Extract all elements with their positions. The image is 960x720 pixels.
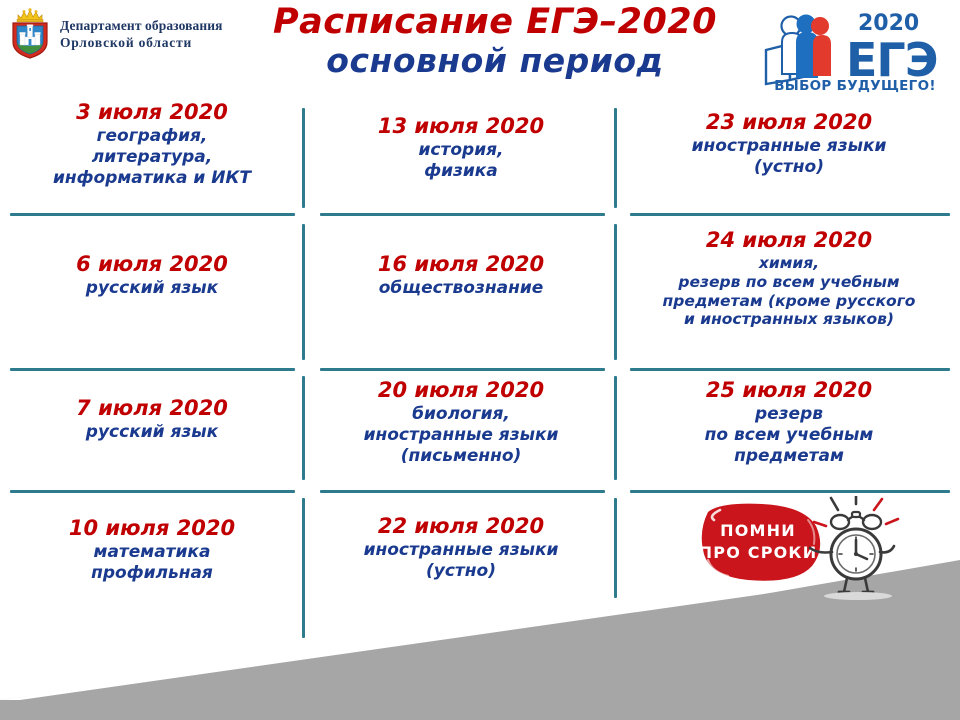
subject-line: предметам (кроме русского xyxy=(626,292,952,311)
column-divider-2-seg4 xyxy=(614,498,617,598)
oryol-oblast-coat-of-arms-icon xyxy=(8,8,52,60)
cell-date: 22 июля 2020 xyxy=(316,514,606,538)
department-branding: Департамент образования Орловской област… xyxy=(8,6,240,62)
cell-date: 25 июля 2020 xyxy=(628,378,950,402)
cell-date: 13 июля 2020 xyxy=(316,114,606,138)
subject-line: резерв по всем учебным xyxy=(626,273,952,292)
cell-date: 20 июля 2020 xyxy=(316,378,606,402)
cell-subjects: математика профильная xyxy=(8,542,296,583)
row-divider-3-col2 xyxy=(320,490,605,493)
subject-line: информатика и ИКТ xyxy=(8,168,296,189)
cell-date: 6 июля 2020 xyxy=(8,252,296,276)
subject-line: профильная xyxy=(8,563,296,584)
row-divider-2-col3 xyxy=(630,368,950,371)
schedule-cell-c3-r1: 23 июля 2020 иностранные языки (устно) xyxy=(624,110,954,178)
cell-date: 3 июля 2020 xyxy=(8,100,296,124)
schedule-cell-c1-r2: 6 июля 2020 русский язык xyxy=(4,252,300,299)
cell-date: 16 июля 2020 xyxy=(316,252,606,276)
subject-line: резерв xyxy=(628,404,950,425)
column-divider-1-seg1 xyxy=(302,108,305,208)
subject-line: химия, xyxy=(626,254,952,273)
row-divider-1-col1 xyxy=(10,213,295,216)
schedule-cell-c2-r4: 22 июля 2020 иностранные языки (устно) xyxy=(312,514,610,582)
red-stamp-icon: ПОМНИ ПРО СРОКИ xyxy=(699,504,820,581)
schedule-poster: Департамент образования Орловской област… xyxy=(0,0,960,720)
row-divider-2-col1 xyxy=(10,368,295,371)
schedule-cell-c2-r2: 16 июля 2020 обществознание xyxy=(312,252,610,299)
column-divider-1-seg3 xyxy=(302,376,305,480)
cell-subjects: география, литература, информатика и ИКТ xyxy=(8,126,296,188)
cell-subjects: иностранные языки (устно) xyxy=(628,136,950,177)
department-line-1: Департамент образования xyxy=(60,17,223,34)
row-divider-3-col1 xyxy=(10,490,295,493)
cell-subjects: русский язык xyxy=(8,422,296,443)
department-name: Департамент образования Орловской област… xyxy=(60,17,223,52)
subject-line: русский язык xyxy=(8,422,296,443)
cell-subjects: биология, иностранные языки (письменно) xyxy=(316,404,606,466)
subject-line: история, xyxy=(316,140,606,161)
schedule-cell-c1-r3: 7 июля 2020 русский язык xyxy=(4,396,300,443)
subject-line: (устно) xyxy=(628,157,950,178)
cell-subjects: обществознание xyxy=(316,278,606,299)
cell-date: 23 июля 2020 xyxy=(628,110,950,134)
cell-subjects: резерв по всем учебным предметам xyxy=(628,404,950,466)
subject-line: по всем учебным xyxy=(628,425,950,446)
cell-subjects: история, физика xyxy=(316,140,606,181)
schedule-cell-c2-r1: 13 июля 2020 история, физика xyxy=(312,114,610,182)
row-divider-1-col2 xyxy=(320,213,605,216)
deadline-reminder-illustration: ПОМНИ ПРО СРОКИ xyxy=(690,496,940,600)
page-title: Расписание ЕГЭ–2020 основной период xyxy=(245,4,745,80)
subject-line: биология, xyxy=(316,404,606,425)
stamp-line-1: ПОМНИ xyxy=(720,521,796,540)
subject-line: обществознание xyxy=(316,278,606,299)
subject-line: литература, xyxy=(8,147,296,168)
title-line-1: Расписание ЕГЭ–2020 xyxy=(245,4,745,41)
subject-line: (устно) xyxy=(316,561,606,582)
column-divider-1-seg4 xyxy=(302,498,305,638)
subject-line: физика xyxy=(316,161,606,182)
column-divider-2-seg3 xyxy=(614,376,617,480)
subject-line: предметам xyxy=(628,446,950,467)
schedule-cell-c1-r4: 10 июля 2020 математика профильная xyxy=(4,516,300,584)
subject-line: русский язык xyxy=(8,278,296,299)
subject-line: иностранные языки xyxy=(316,425,606,446)
title-line-2: основной период xyxy=(245,43,745,80)
alarm-clock-icon xyxy=(810,496,898,600)
cell-date: 10 июля 2020 xyxy=(8,516,296,540)
row-divider-2-col2 xyxy=(320,368,605,371)
subject-line: и иностранных языков) xyxy=(626,310,952,329)
cell-date: 7 июля 2020 xyxy=(8,396,296,420)
subject-line: иностранные языки xyxy=(316,540,606,561)
cell-date: 24 июля 2020 xyxy=(626,228,952,252)
subject-line: математика xyxy=(8,542,296,563)
cell-subjects: русский язык xyxy=(8,278,296,299)
row-divider-3-col3 xyxy=(630,490,950,493)
cell-subjects: иностранные языки (устно) xyxy=(316,540,606,581)
column-divider-2-seg2 xyxy=(614,224,617,360)
column-divider-2-seg1 xyxy=(614,108,617,208)
stamp-line-2: ПРО СРОКИ xyxy=(699,543,818,562)
schedule-cell-c1-r1: 3 июля 2020 география, литература, инфор… xyxy=(4,100,300,189)
subject-line: география, xyxy=(8,126,296,147)
schedule-cell-c2-r3: 20 июля 2020 биология, иностранные языки… xyxy=(312,378,610,467)
row-divider-1-col3 xyxy=(630,213,950,216)
schedule-cell-c3-r2: 24 июля 2020 химия, резерв по всем учебн… xyxy=(622,228,956,329)
logo-tagline: ВЫБОР БУДУЩЕГО! xyxy=(760,78,950,94)
schedule-cell-c3-r3: 25 июля 2020 резерв по всем учебным пред… xyxy=(624,378,954,467)
subject-line: (письменно) xyxy=(316,446,606,467)
cell-subjects: химия, резерв по всем учебным предметам … xyxy=(626,254,952,328)
department-line-2: Орловской области xyxy=(60,34,223,51)
subject-line: иностранные языки xyxy=(628,136,950,157)
column-divider-1-seg2 xyxy=(302,224,305,360)
